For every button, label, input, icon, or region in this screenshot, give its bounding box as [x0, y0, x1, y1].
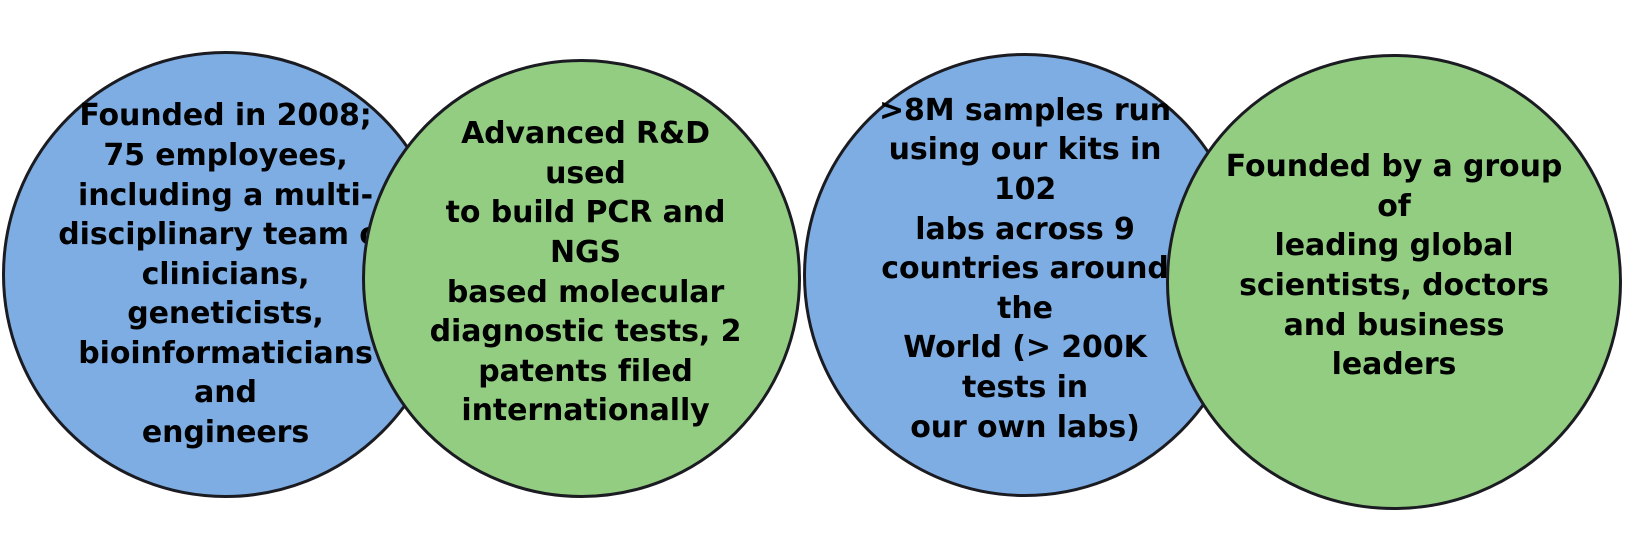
info-circle-3-label: >8M samples run using our kits in 102 la… [855, 91, 1195, 447]
info-circle-1-label: Founded in 2008; 75 employees, including… [51, 96, 401, 452]
info-circle-4-label: Founded by a group of leading global sci… [1214, 147, 1574, 385]
info-circle-4[interactable]: Founded by a group of leading global sci… [1166, 54, 1622, 510]
diagram-canvas: Founded in 2008; 75 employees, including… [0, 0, 1643, 548]
info-circle-2[interactable]: Advanced R&D used to build PCR and NGS b… [362, 59, 801, 498]
info-circle-2-label: Advanced R&D used to build PCR and NGS b… [421, 114, 751, 431]
